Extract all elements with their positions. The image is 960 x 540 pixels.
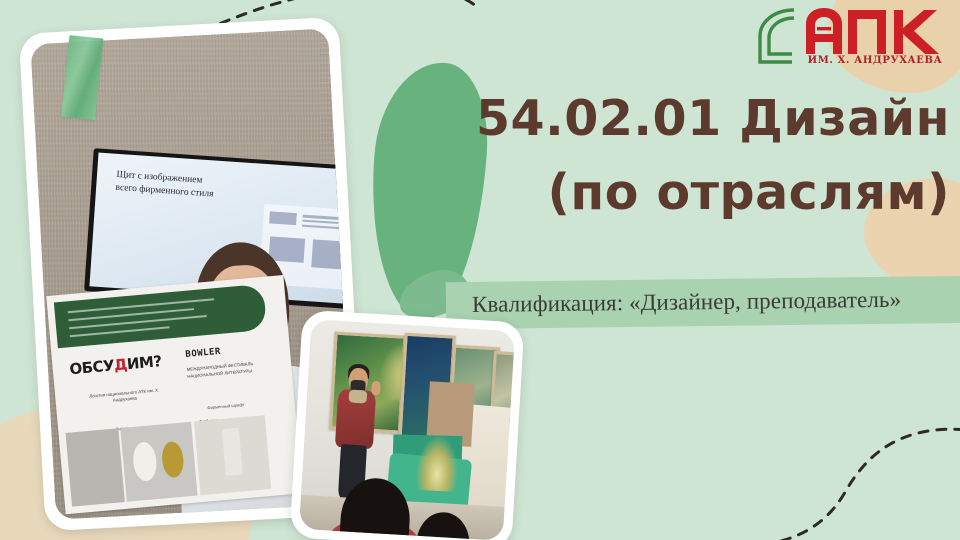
poster-thumbnail xyxy=(120,421,198,502)
poster-thumbnail xyxy=(194,415,272,496)
poster-header-line xyxy=(67,297,213,312)
dashed-curve-bottom-right-icon xyxy=(760,398,960,540)
poster-bowler-wordmark: BOWLER xyxy=(185,346,221,359)
poster-thumb-badge xyxy=(132,441,158,482)
presenter-raised-hand xyxy=(371,381,381,396)
logo-caption: ИМ. Х. АНДРУХАЕВА xyxy=(800,55,950,66)
poster-brand-wordmark: ОБСУДИМ? xyxy=(69,351,163,377)
photo-project-poster: ОБСУДИМ? Логотип национального АТК им. Х… xyxy=(46,274,303,513)
photo-screen-chip xyxy=(269,211,296,226)
poster-bowler-subtitle: МЕЖДУНАРОДНЫЙ ФЕСТИВАЛЬ НАЦИОНАЛЬНОЙ ЛИТ… xyxy=(187,359,274,380)
photo-screen-chip xyxy=(302,224,354,230)
poster-brand-text: ОБСУДИМ? xyxy=(69,351,163,377)
college-logo: ИМ. Х. АНДРУХАЕВА xyxy=(748,2,954,68)
gallery-still-life-plant xyxy=(416,435,460,492)
poster-brand-subtitle: Логотип национального АТК им. Х. Андруха… xyxy=(84,386,166,406)
poster-header-bar xyxy=(54,283,267,347)
page-title-line-1: 54.02.01 Дизайн xyxy=(424,82,950,156)
page-title: 54.02.01 Дизайн (по отраслям) xyxy=(424,82,950,231)
page-title-line-2: (по отраслям) xyxy=(424,156,950,230)
poster-thumb-coin xyxy=(160,440,185,477)
presentation-slide: ИМ. Х. АНДРУХАЕВА 54.02.01 Дизайн (по от… xyxy=(0,0,960,540)
poster-thumb-garment xyxy=(222,427,243,474)
photo-screen-heading: Щит с изображением всего фирменного стил… xyxy=(115,168,269,206)
photo-art-exhibition xyxy=(299,319,515,540)
photo-card-art-exhibition xyxy=(289,310,524,540)
poster-thumbnail xyxy=(66,428,125,507)
presenter-scarf xyxy=(349,390,368,404)
poster-font-caption: Фирменный шрифт xyxy=(190,400,262,411)
